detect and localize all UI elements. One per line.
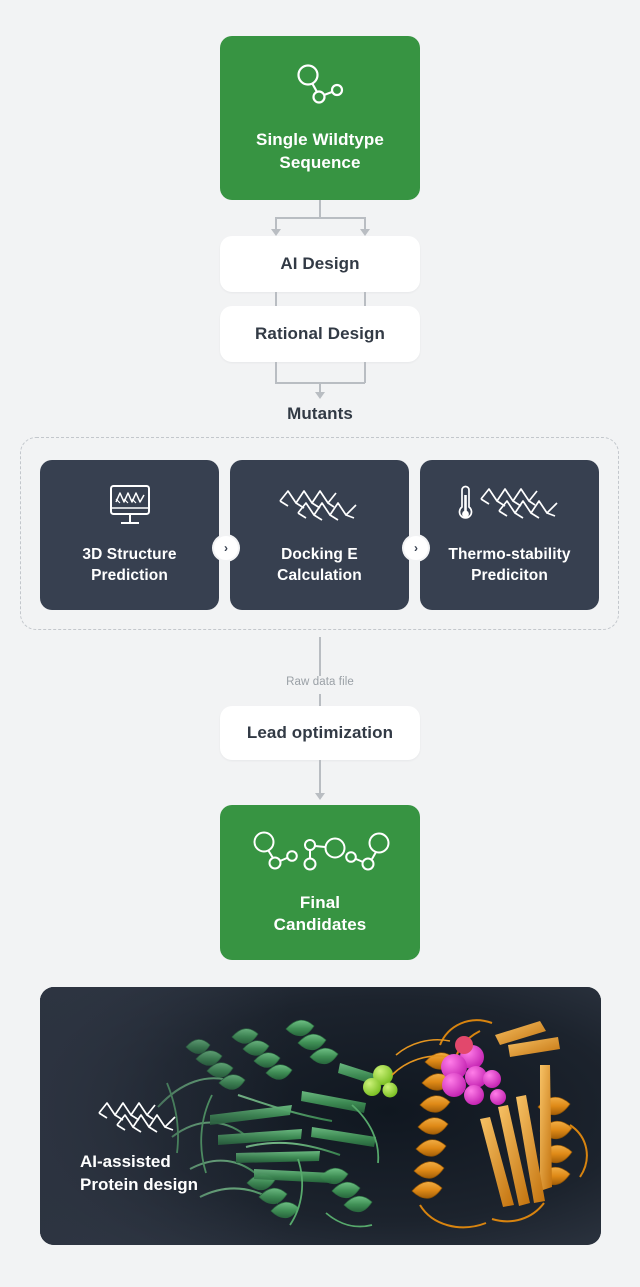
lead-optimization-label: Lead optimization <box>247 723 393 743</box>
connector-ai-to-rational-left <box>275 292 277 306</box>
chevron-right-glyph: › <box>414 541 418 555</box>
thermometer-helix-icon <box>451 483 569 529</box>
molecule-icon <box>294 62 346 115</box>
connector-start-stem <box>319 200 321 218</box>
single-wildtype-sequence-card[interactable]: Single Wildtype Sequence <box>220 36 420 200</box>
rational-design-box[interactable]: Rational Design <box>220 306 420 362</box>
ai-design-box[interactable]: AI Design <box>220 236 420 292</box>
raw-data-file-label: Raw data file <box>250 676 390 688</box>
card-title: Thermo-stability Prediciton <box>448 545 570 587</box>
connector-split-bar <box>275 217 365 219</box>
protein-structure-image-panel[interactable]: AI-assisted Protein design <box>40 987 601 1245</box>
workflow-diagram: Single Wildtype Sequence AI Design Ratio… <box>0 0 640 1287</box>
helix-icon <box>274 483 366 529</box>
arrow-to-final-candidates <box>315 793 325 800</box>
structure-prediction-card[interactable]: 3D Structure Prediction <box>40 460 219 610</box>
mutants-label: Mutants <box>220 404 420 424</box>
panel-caption: AI-assisted Protein design <box>80 1151 198 1197</box>
ai-design-label: AI Design <box>280 254 359 274</box>
docking-calculation-card[interactable]: Docking E Calculation <box>230 460 409 610</box>
connector-lead-to-final <box>319 760 321 795</box>
rational-design-label: Rational Design <box>255 324 385 344</box>
arrow-split-left <box>271 229 281 236</box>
arrow-to-mutants <box>315 392 325 399</box>
final-candidates-card[interactable]: Final Candidates <box>220 805 420 960</box>
connector-ai-to-rational-right <box>364 292 366 306</box>
connector-merge-right <box>364 362 366 383</box>
molecule-cluster-icon <box>248 829 392 878</box>
chevron-right-glyph: › <box>224 541 228 555</box>
thermostability-prediction-card[interactable]: Thermo-stability Prediciton <box>420 460 599 610</box>
card-title: Docking E Calculation <box>277 545 362 587</box>
arrow-split-right <box>360 229 370 236</box>
lead-optimization-box[interactable]: Lead optimization <box>220 706 420 760</box>
card-title: Single Wildtype Sequence <box>256 129 384 174</box>
connector-raw-data-upper <box>319 637 321 677</box>
monitor-helix-icon <box>102 483 158 529</box>
card-title: Final Candidates <box>274 892 367 937</box>
connector-raw-data-lower <box>319 694 321 706</box>
pipeline-chevron-2-icon: › <box>404 536 428 560</box>
card-title: 3D Structure Prediction <box>82 545 176 587</box>
connector-merge-left <box>275 362 277 383</box>
helix-icon <box>93 1095 185 1146</box>
pipeline-chevron-1-icon: › <box>214 536 238 560</box>
